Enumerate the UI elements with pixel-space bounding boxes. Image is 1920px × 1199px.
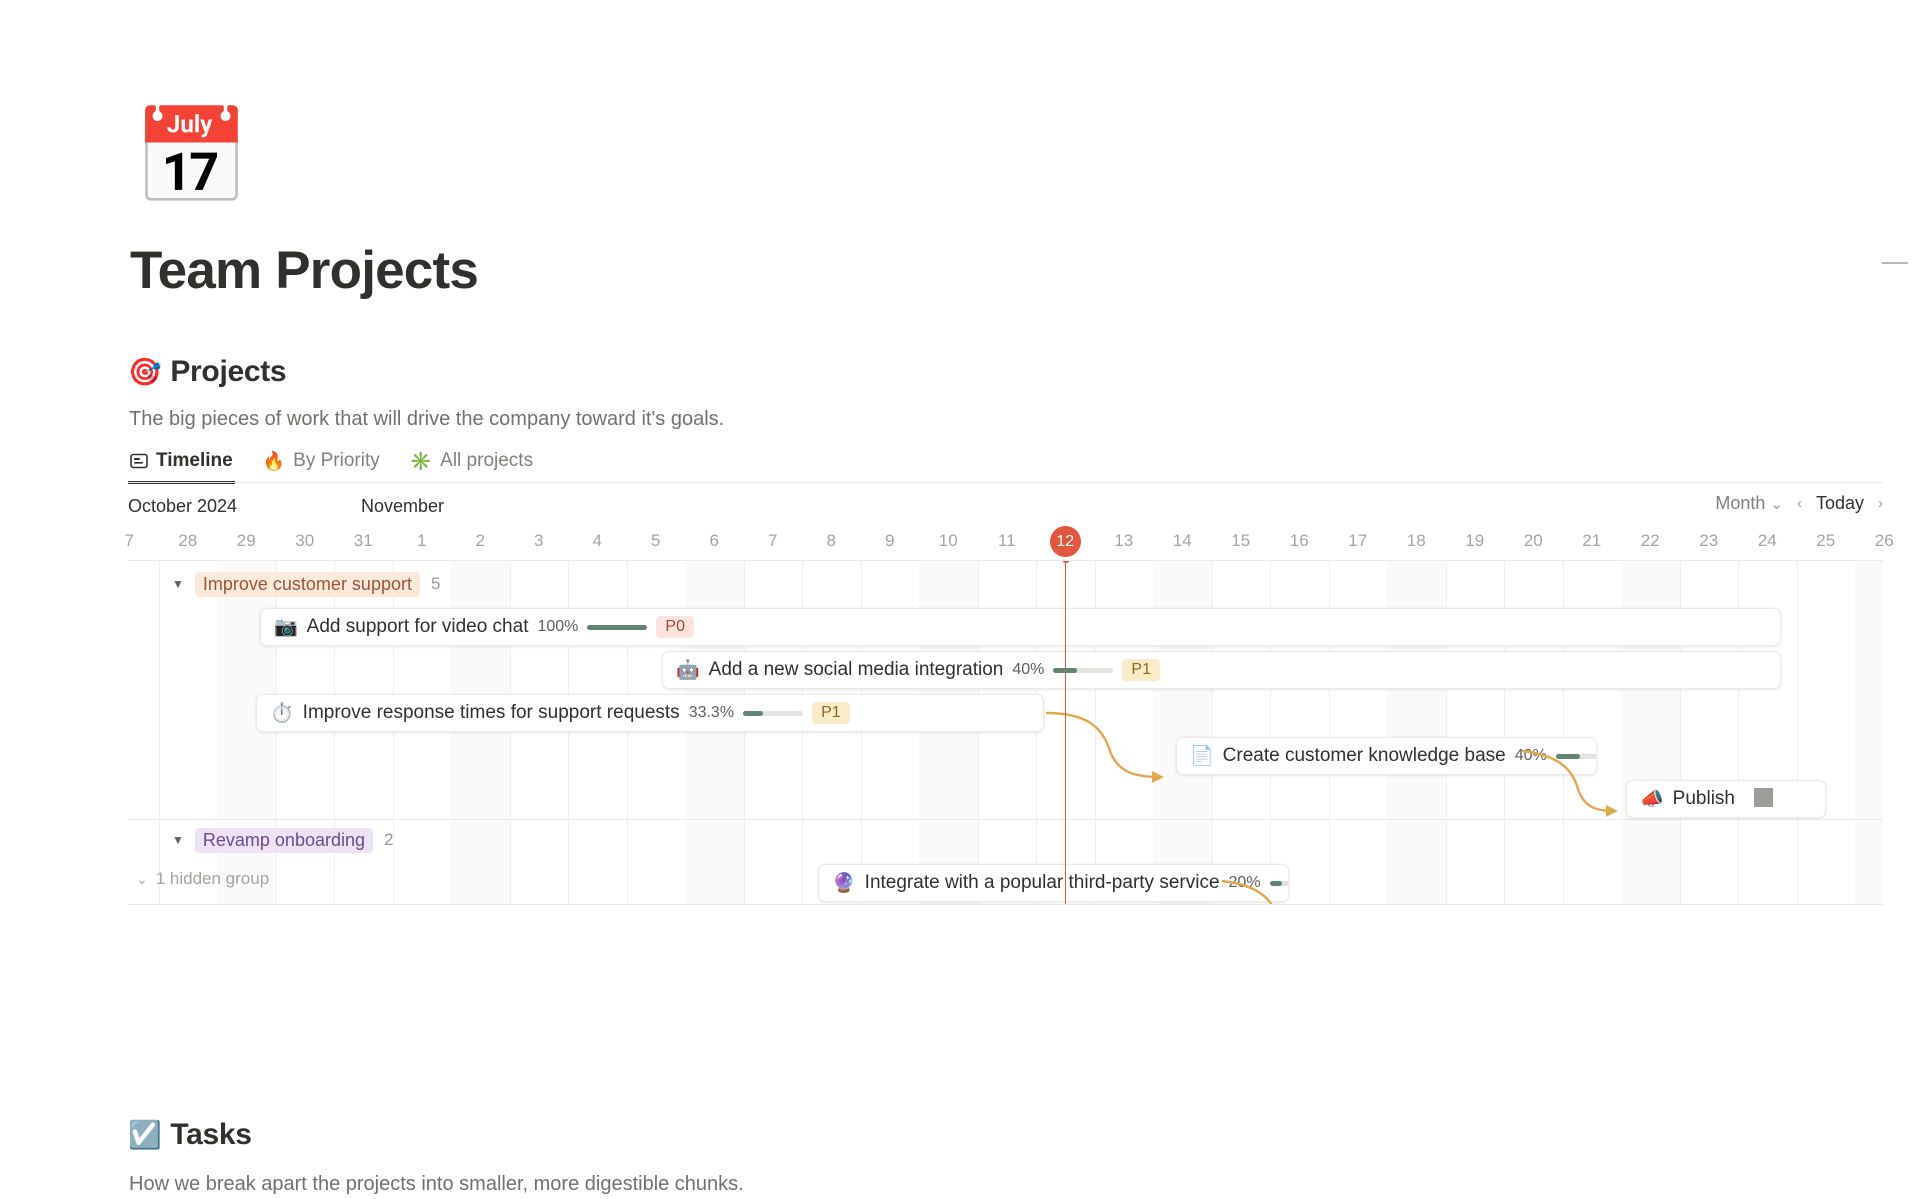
tasks-heading-label: Tasks [170,1118,251,1152]
timeline-bar-percent: 33.3% [689,704,734,722]
timeline-bar-title: Add support for video chat [307,616,529,638]
group-divider [128,819,1883,820]
timeline-bar-title: Integrate with a popular third-party ser… [865,872,1220,894]
stopwatch-icon: ⏱️ [270,704,294,723]
progress-track [1270,881,1289,886]
chevron-down-icon: ⌄ [1770,495,1783,513]
timeline-header: October 2024 November Month ⌄ ‹ Today › [128,490,1883,526]
group-count: 2 [384,830,393,850]
collapse-caret-icon[interactable]: ▼ [172,577,184,591]
hidden-group-toggle[interactable]: ⌄ 1 hidden group [136,869,269,889]
day-cell: 31 [334,526,393,556]
day-cell: 21 [1563,526,1622,556]
priority-badge: P1 [1122,659,1160,681]
group-header-revamp-onboarding[interactable]: ▼ Revamp onboarding 2 [172,825,393,855]
day-cell: 17 [1329,526,1388,556]
timeline-bar-title: Publish [1673,788,1735,810]
crystal-ball-icon: 🔮 [832,874,856,893]
timeline-bar-title: Add a new social media integration [709,659,1004,681]
day-cell: 14 [1153,526,1212,556]
day-cell: 4 [568,526,627,556]
weekend-column [1855,561,1883,904]
day-cell: 20 [1504,526,1563,556]
day-cell: 30 [276,526,335,556]
tabs-divider [128,482,1883,483]
projects-section-heading: 🎯 Projects [128,355,286,389]
today-marker: 12 [1050,526,1081,557]
next-period-button[interactable]: › [1878,495,1883,512]
mouse-cursor-overlay [1754,788,1773,807]
timeline-bar-title: Improve response times for support reque… [303,702,680,724]
grid-line [1797,561,1798,904]
camera-icon: 📷 [274,618,298,637]
page-title: Team Projects [130,240,478,301]
chevron-down-icon: ⌄ [136,871,148,888]
right-edge-divider [1882,262,1908,264]
day-cell: 13 [1095,526,1154,556]
collapse-caret-icon[interactable]: ▼ [172,833,184,847]
group-name-pill: Improve customer support [195,572,420,597]
day-cell: 25 [1797,526,1856,556]
day-cell: 8 [802,526,861,556]
tab-by-priority-label: By Priority [293,450,380,472]
day-cell: 1 [393,526,452,556]
day-cell: 28 [159,526,218,556]
timeline-bar-improve-response-times-for-support-requests[interactable]: ⏱️ Improve response times for support re… [256,694,1044,732]
timeline-bar-add-a-new-social-media-integration[interactable]: 🤖 Add a new social media integration 40%… [662,651,1781,689]
progress-track [1556,754,1597,759]
day-cell: 6 [685,526,744,556]
day-cell: 10 [919,526,978,556]
sparkle-asterisk-icon: ✳️ [410,452,432,470]
day-cell: 29 [217,526,276,556]
day-cell: 23 [1680,526,1739,556]
tasks-section-heading: ☑️ Tasks [128,1118,252,1152]
megaphone-icon: 📣 [1640,790,1664,809]
tasks-description: How we break apart the projects into sma… [129,1173,744,1196]
timeline-view: October 2024 November Month ⌄ ‹ Today › … [128,490,1883,905]
progress-track [587,625,647,630]
timeline-bar-publish[interactable]: 📣 Publish [1626,780,1826,818]
prev-period-button[interactable]: ‹ [1797,495,1802,512]
progress-track [743,711,803,716]
timeline-bar-title: Create customer knowledge base [1223,745,1506,767]
priority-badge: P0 [656,616,694,638]
day-cell: 19 [1446,526,1505,556]
today-line-dot [1062,560,1070,563]
tab-timeline[interactable]: Timeline [128,441,235,484]
grid-line [159,561,160,904]
day-cell: 15 [1212,526,1271,556]
timeline-bar-percent: 100% [537,618,578,636]
timeline-bar-percent: 20% [1229,874,1261,892]
gallery-icon [130,453,148,469]
timeline-bar-integrate-with-a-popular-third-party-service[interactable]: 🔮 Integrate with a popular third-party s… [818,864,1289,902]
day-cell: 7 [100,526,159,556]
timeline-controls: Month ⌄ ‹ Today › [1715,493,1883,514]
tab-by-priority[interactable]: 🔥 By Priority [261,441,382,484]
day-cell: 11 [978,526,1037,556]
timeline-month-november: November [361,496,444,517]
priority-badge: P1 [812,702,850,724]
day-cell: 18 [1387,526,1446,556]
view-tabs: Timeline 🔥 By Priority ✳️ All projects [128,440,535,484]
spiral-calendar-icon[interactable]: 📅 [133,105,237,209]
day-cell: 16 [1270,526,1329,556]
day-cell: 9 [861,526,920,556]
tab-all-projects[interactable]: ✳️ All projects [408,441,535,484]
progress-track [1053,668,1113,673]
day-cell: 22 [1621,526,1680,556]
group-count: 5 [431,574,440,594]
day-cell-today: 12 [1036,526,1095,557]
timeline-scale-label: Month [1715,493,1765,514]
timeline-grid: ▼ Improve customer support 5 📷 Add suppo… [128,560,1883,905]
hidden-group-label: 1 hidden group [156,869,269,889]
timeline-bar-create-customer-knowledge-base[interactable]: 📄 Create customer knowledge base 40% P1 [1176,737,1597,775]
timeline-bar-add-support-for-video-chat[interactable]: 📷 Add support for video chat 100% P0 [260,608,1781,646]
fire-icon: 🔥 [263,452,285,470]
group-name-pill: Revamp onboarding [195,828,373,853]
timeline-month-october: October 2024 [128,496,237,517]
projects-description: The big pieces of work that will drive t… [129,408,724,431]
checkbox-icon: ☑️ [128,1122,161,1149]
day-cell: 2 [451,526,510,556]
day-cell: 5 [627,526,686,556]
notion-page: 📅 Team Projects 🎯 Projects The big piece… [0,0,1920,1199]
target-icon: 🎯 [128,359,161,386]
day-cell: 27 [1914,526,1920,556]
day-cell: 7 [744,526,803,556]
day-cell: 3 [510,526,569,556]
day-cell: 24 [1738,526,1797,556]
tab-timeline-label: Timeline [156,450,233,472]
robot-icon: 🤖 [676,661,700,680]
projects-heading-label: Projects [170,355,286,389]
timeline-bar-percent: 40% [1515,747,1547,765]
document-icon: 📄 [1190,747,1214,766]
today-button[interactable]: Today [1816,493,1864,514]
tab-all-projects-label: All projects [440,450,533,472]
timeline-bar-percent: 40% [1012,661,1044,679]
today-line [1065,561,1066,904]
day-cell: 26 [1855,526,1914,556]
timeline-scale-select[interactable]: Month ⌄ [1715,493,1783,514]
group-header-improve-customer-support[interactable]: ▼ Improve customer support 5 [172,569,440,599]
timeline-day-strip: 7282930311234567891011121314151617181920… [128,526,1883,560]
